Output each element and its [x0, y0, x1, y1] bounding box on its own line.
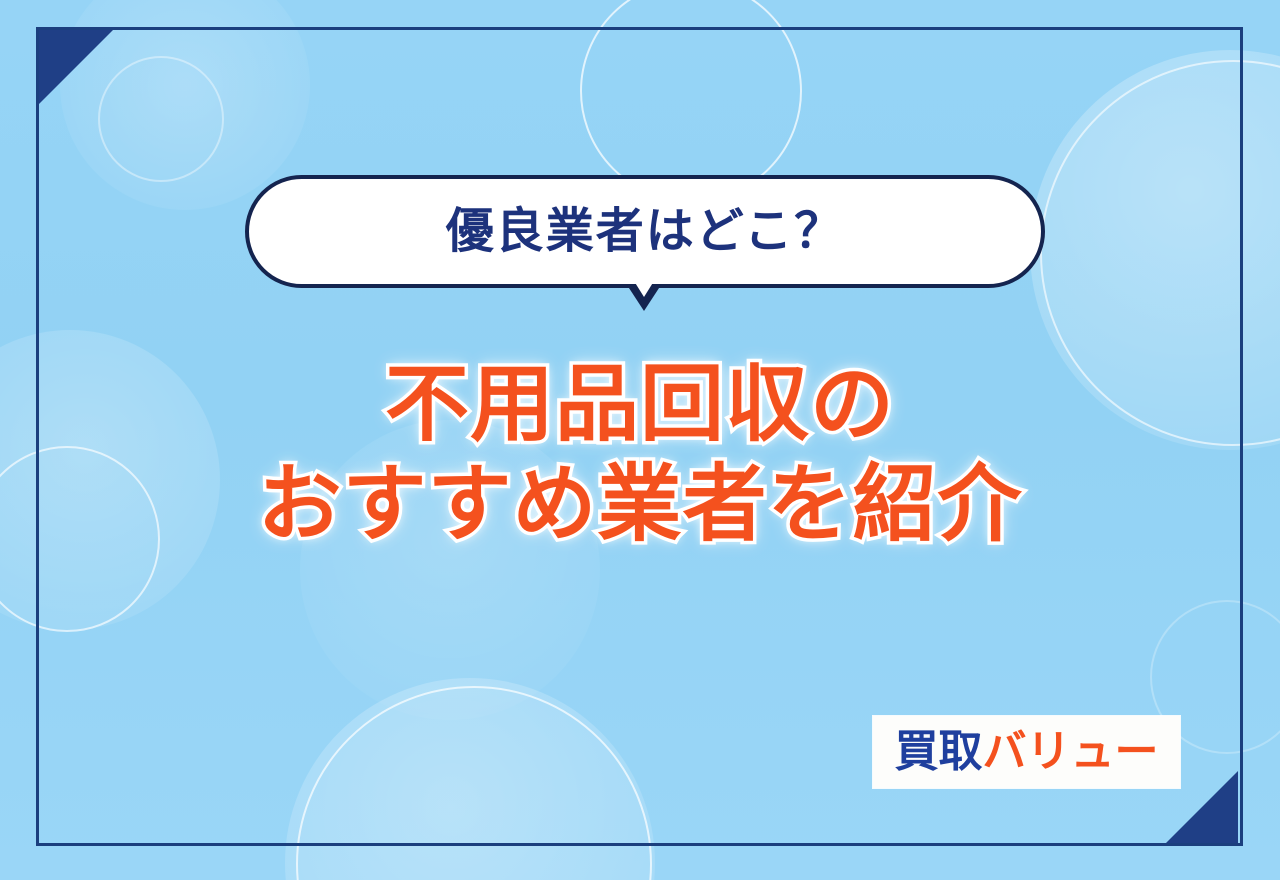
headline: 不用品回収の おすすめ業者を紹介: [0, 355, 1280, 555]
headline-line-2: おすすめ業者を紹介: [0, 455, 1280, 555]
brand-logo-kana: バリュー: [983, 730, 1159, 774]
speech-bubble-text: 優良業者はどこ？: [446, 208, 845, 256]
corner-wedge-top-left: [39, 30, 113, 104]
promo-banner: 優良業者はどこ？ 不用品回収の おすすめ業者を紹介 買取バリュー: [0, 0, 1280, 880]
headline-line-1: 不用品回収の: [0, 355, 1280, 455]
speech-bubble-tail-inner: [634, 281, 654, 297]
brand-logo-kanji: 買取: [895, 730, 983, 774]
speech-bubble-body: 優良業者はどこ？: [245, 175, 1045, 288]
speech-bubble: 優良業者はどこ？: [245, 175, 1045, 288]
brand-logo: 買取バリュー: [873, 716, 1180, 788]
